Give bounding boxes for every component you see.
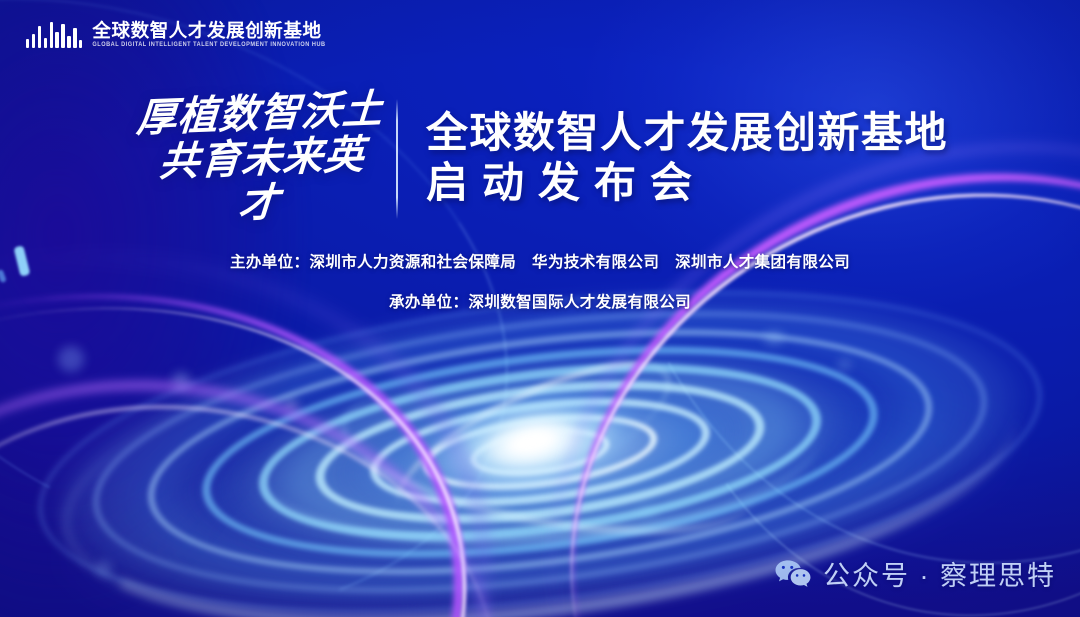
- logo-bar: [38, 26, 41, 48]
- logo-bar: [55, 32, 58, 48]
- wechat-watermark: 公众号 · 察理思特: [775, 554, 1056, 593]
- page-title: 全球数智人才发展创新基地: [426, 112, 948, 154]
- calligraphy-line-2: 共育未来英才: [137, 132, 384, 231]
- executing-organisation: 承办单位：深圳数智国际人才发展有限公司: [389, 290, 691, 312]
- logo-bar: [61, 24, 64, 48]
- main-titles: 全球数智人才发展创新基地 启动发布会: [426, 112, 948, 206]
- logo-bar: [26, 39, 29, 48]
- logo-bar: [79, 40, 82, 48]
- wechat-icon: [775, 560, 811, 588]
- brand-logo-text: 全球数智人才发展创新基地 GLOBAL DIGITAL INTELLIGENT …: [92, 22, 325, 48]
- logo-bar: [44, 38, 47, 48]
- brand-logo-title-cn: 全球数智人才发展创新基地: [92, 22, 325, 41]
- brand-logo[interactable]: 全球数智人才发展创新基地 GLOBAL DIGITAL INTELLIGENT …: [26, 22, 326, 48]
- calligraphy-slogan: 厚植数智沃土 共育未来英才: [127, 87, 387, 231]
- bar-chart-logo-mark: [26, 22, 82, 48]
- vertical-divider: [396, 99, 398, 219]
- logo-bar: [67, 36, 70, 48]
- headline-block: 厚植数智沃土 共育未来英才 全球数智人才发展创新基地 启动发布会: [0, 92, 1080, 226]
- logo-bar: [73, 28, 76, 48]
- logo-bar: [32, 34, 35, 48]
- page-subtitle: 启动发布会: [426, 160, 948, 206]
- organiser-block: 主办单位：深圳市人力资源和社会保障局 华为技术有限公司 深圳市人才集团有限公司 …: [0, 250, 1080, 312]
- host-organisations: 主办单位：深圳市人力资源和社会保障局 华为技术有限公司 深圳市人才集团有限公司: [230, 250, 850, 272]
- event-backdrop-stage: 全球数智人才发展创新基地 GLOBAL DIGITAL INTELLIGENT …: [0, 0, 1080, 617]
- logo-bar: [50, 22, 53, 48]
- watermark-text: 公众号 · 察理思特: [823, 554, 1056, 593]
- brand-logo-title-en: GLOBAL DIGITAL INTELLIGENT TALENT DEVELO…: [92, 42, 325, 48]
